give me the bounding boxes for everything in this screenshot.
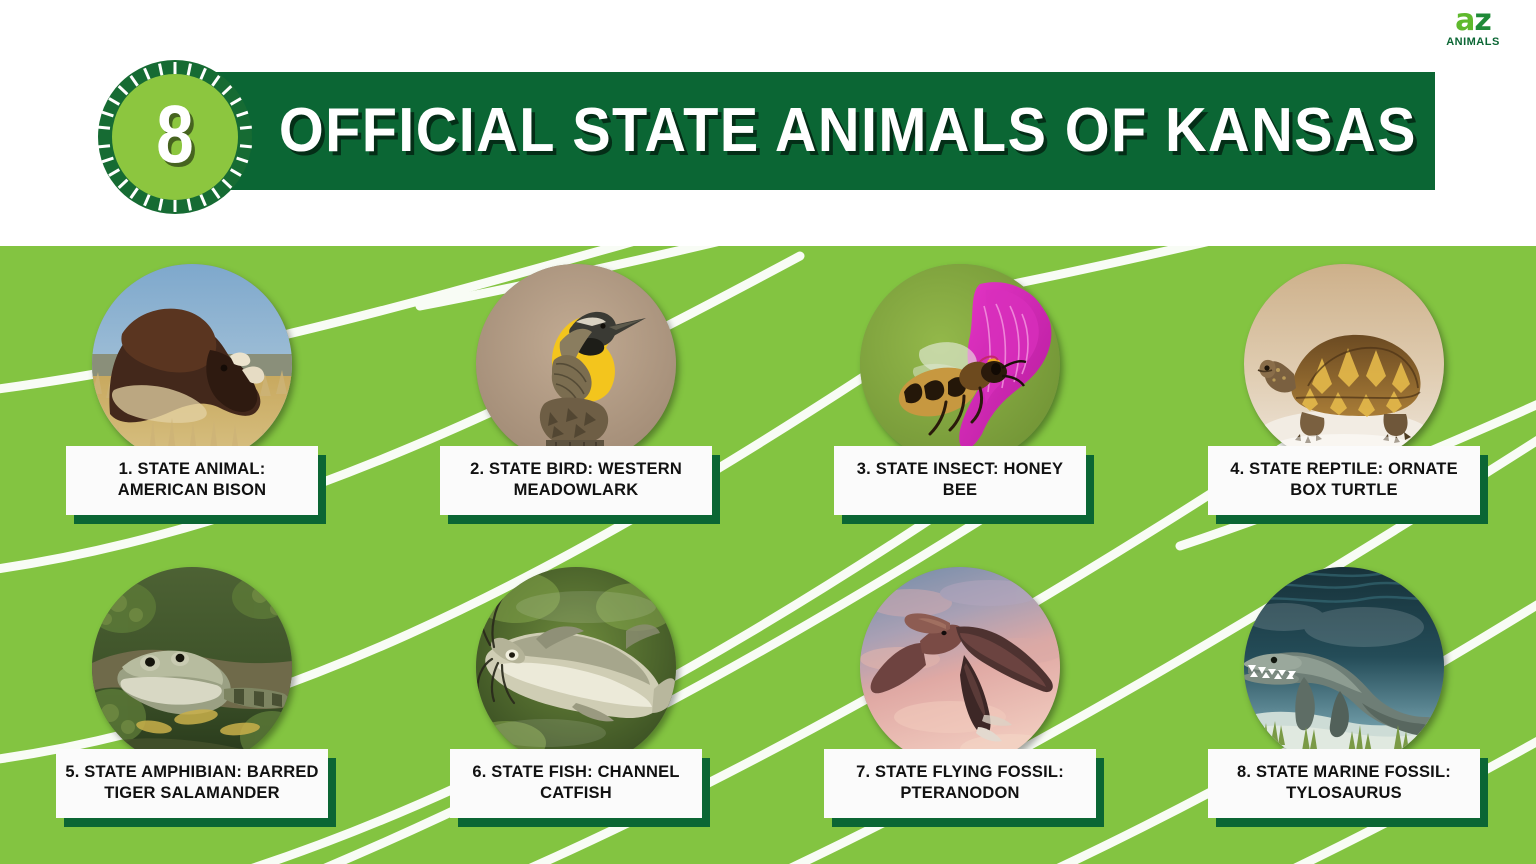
item-caption: 6. STATE FISH: CHANNEL CATFISH [450, 749, 702, 818]
item-caption: 8. STATE MARINE FOSSIL: TYLOSAURUS [1208, 749, 1480, 818]
animals-grid: 1. STATE ANIMAL: AMERICAN BISON [0, 246, 1536, 864]
count-badge: 8 [96, 58, 254, 216]
grid-cell: 5. STATE AMPHIBIAN: BARRED TIGER SALAMAN… [0, 555, 384, 864]
pteranodon-photo [860, 567, 1060, 767]
channel-catfish-photo [476, 567, 676, 767]
grid-cell: 3. STATE INSECT: HONEY BEE [768, 246, 1152, 555]
grid-cell: 8. STATE MARINE FOSSIL: TYLOSAURUS [1152, 555, 1536, 864]
item-caption: 5. STATE AMPHIBIAN: BARRED TIGER SALAMAN… [56, 749, 328, 818]
item-caption: 7. STATE FLYING FOSSIL: PTERANODON [824, 749, 1096, 818]
az-logo-letters: az [1432, 6, 1514, 36]
ornate-box-turtle-photo [1244, 264, 1444, 464]
caption-wrap: 6. STATE FISH: CHANNEL CATFISH [450, 749, 702, 818]
grid-cell: 2. STATE BIRD: WESTERN MEADOWLARK [384, 246, 768, 555]
grid-cell: 1. STATE ANIMAL: AMERICAN BISON [0, 246, 384, 555]
item-caption: 3. STATE INSECT: HONEY BEE [834, 446, 1086, 515]
grid-cell: 7. STATE FLYING FOSSIL: PTERANODON [768, 555, 1152, 864]
grid-cell: 4. STATE REPTILE: ORNATE BOX TURTLE [1152, 246, 1536, 555]
item-caption: 1. STATE ANIMAL: AMERICAN BISON [66, 446, 318, 515]
caption-wrap: 5. STATE AMPHIBIAN: BARRED TIGER SALAMAN… [56, 749, 328, 818]
badge-number: 8 [110, 58, 240, 216]
content-panel: 1. STATE ANIMAL: AMERICAN BISON [0, 246, 1536, 864]
caption-wrap: 7. STATE FLYING FOSSIL: PTERANODON [824, 749, 1096, 818]
item-caption: 2. STATE BIRD: WESTERN MEADOWLARK [440, 446, 712, 515]
tylosaurus-photo [1244, 567, 1444, 767]
honey-bee-photo [860, 264, 1060, 464]
logo-letter-a: a [1455, 3, 1474, 38]
az-animals-logo[interactable]: az ANIMALS [1432, 6, 1514, 56]
logo-wordmark: ANIMALS [1432, 37, 1514, 48]
infographic-page: az ANIMALS OFFICIAL STATE ANIMALS OF KAN… [0, 0, 1536, 864]
caption-wrap: 2. STATE BIRD: WESTERN MEADOWLARK [440, 446, 712, 515]
caption-wrap: 1. STATE ANIMAL: AMERICAN BISON [66, 446, 318, 515]
item-caption: 4. STATE REPTILE: ORNATE BOX TURTLE [1208, 446, 1480, 515]
caption-wrap: 8. STATE MARINE FOSSIL: TYLOSAURUS [1208, 749, 1480, 818]
logo-letter-z: z [1474, 3, 1490, 38]
barred-tiger-salamander-photo [92, 567, 292, 767]
american-bison-photo [92, 264, 292, 464]
grid-cell: 6. STATE FISH: CHANNEL CATFISH [384, 555, 768, 864]
page-title: OFFICIAL STATE ANIMALS OF KANSAS [279, 99, 1417, 163]
header: az ANIMALS OFFICIAL STATE ANIMALS OF KAN… [0, 0, 1536, 246]
title-bar: OFFICIAL STATE ANIMALS OF KANSAS [172, 72, 1435, 190]
caption-wrap: 4. STATE REPTILE: ORNATE BOX TURTLE [1208, 446, 1480, 515]
western-meadowlark-photo [476, 264, 676, 464]
caption-wrap: 3. STATE INSECT: HONEY BEE [834, 446, 1086, 515]
